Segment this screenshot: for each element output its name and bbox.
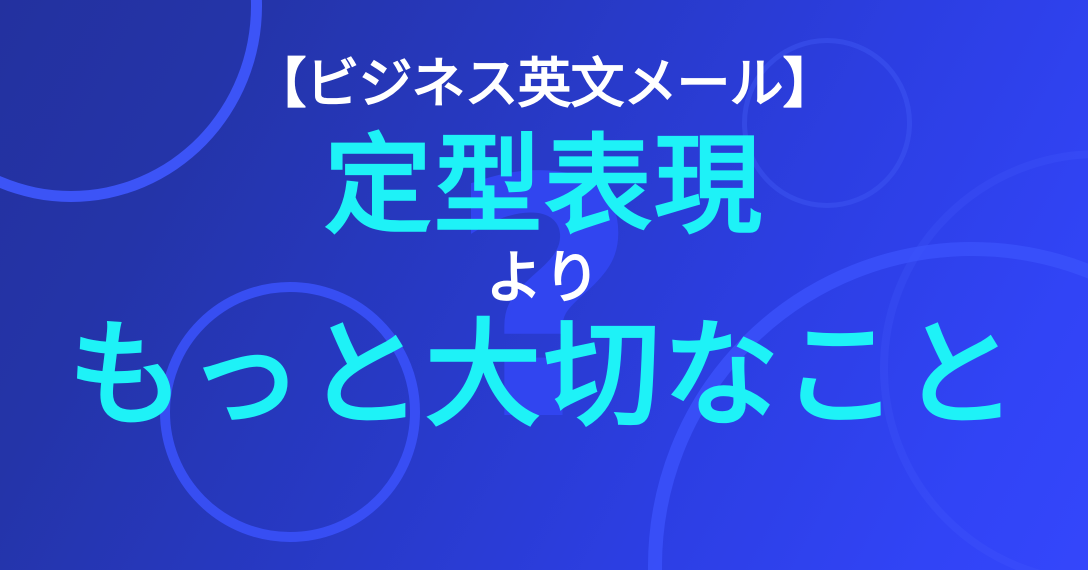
banner-kicker: 【ビジネス英文メール】 xyxy=(0,55,1088,113)
banner-headline: 定型表現 xyxy=(0,129,1088,242)
thumbnail-banner: ? 【ビジネス英文メール】 定型表現 より もっと大切なこと xyxy=(0,0,1088,570)
banner-connector: より xyxy=(0,249,1088,309)
banner-subheadline: もっと大切なこと xyxy=(0,315,1088,437)
banner-text-layer: 【ビジネス英文メール】 定型表現 より もっと大切なこと xyxy=(0,0,1088,570)
